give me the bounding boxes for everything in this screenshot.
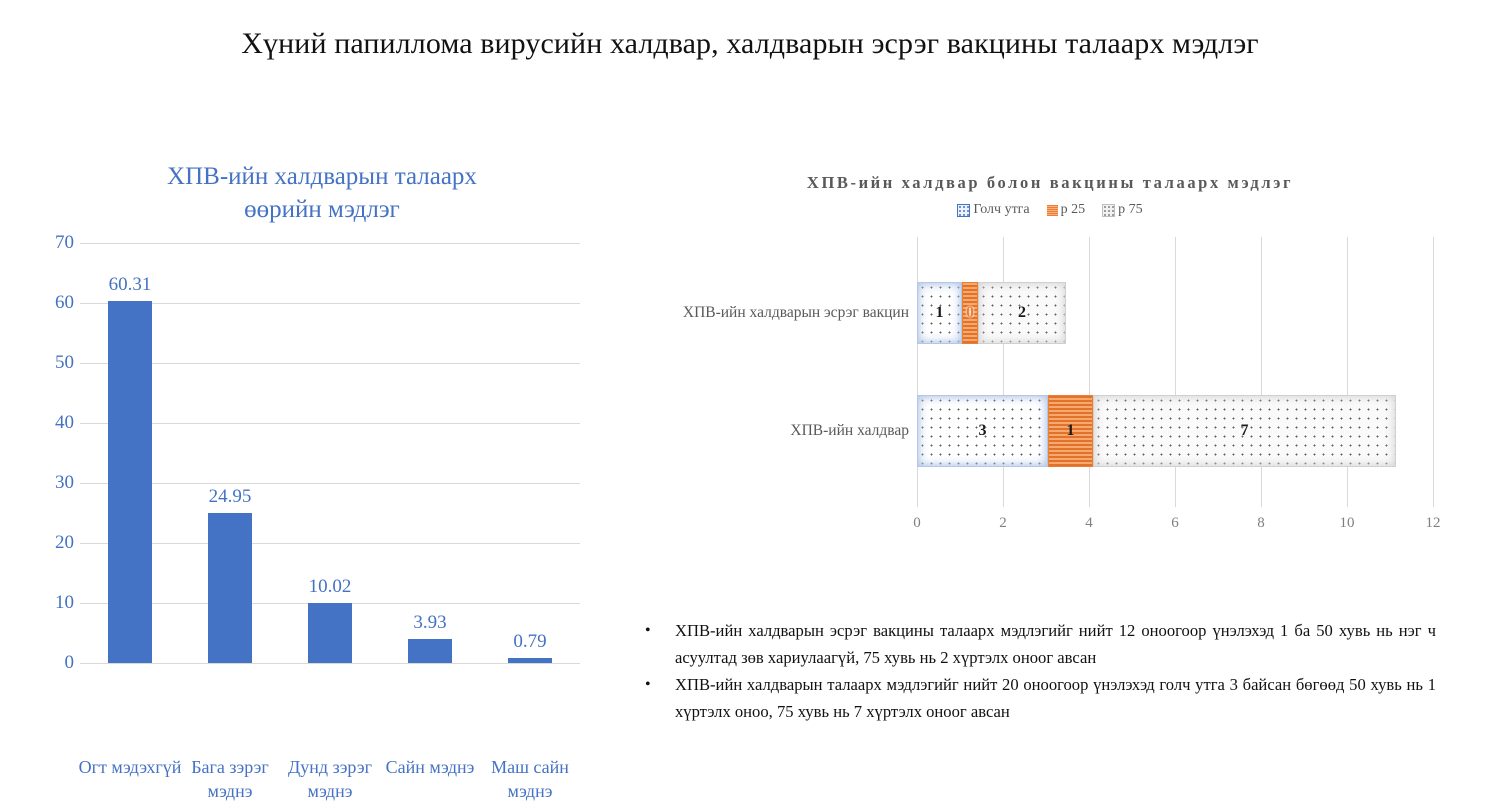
left-chart-y-tick-label: 50: [14, 352, 74, 374]
right-chart-legend-item[interactable]: p 75: [1102, 202, 1143, 218]
bullet-item: • ХПВ-ийн халдварын талаарх мэдлэгийг ни…: [636, 672, 1436, 725]
right-chart-legend: Голч утгаp 25p 75: [620, 202, 1480, 218]
left-chart-gridline: [80, 543, 580, 544]
bullet-text: ХПВ-ийн халдварын талаарх мэдлэгийг нийт…: [675, 672, 1436, 725]
left-chart-value-label: 10.02: [285, 576, 375, 598]
left-chart-title-line2: өөрийн мэдлэг: [127, 193, 517, 226]
right-chart-title: ХПВ-ийн халдвар болон вакцины талаарх мэ…: [620, 173, 1480, 193]
left-chart-category-label: Дунд зэрэг мэднэ: [278, 755, 382, 803]
left-chart-plot-area: 01020304050607060.31Огт мэдэхгүй24.95Баг…: [80, 243, 580, 663]
left-chart-gridline: [80, 423, 580, 424]
right-chart-category-label: ХПВ-ийн халдварын эсрэг вакцин: [683, 304, 909, 322]
left-chart: ХПВ-ийн халдварын талаарх өөрийн мэдлэг …: [22, 160, 612, 780]
right-chart-category-label: ХПВ-ийн халдвар: [790, 422, 909, 440]
right-chart: ХПВ-ийн халдвар болон вакцины талаарх мэ…: [620, 160, 1480, 570]
left-chart-gridline: [80, 243, 580, 244]
right-chart-segment-value-label: 2: [1018, 304, 1026, 322]
right-chart-stacked-bar: 102: [917, 282, 1066, 344]
left-chart-bar: [308, 603, 352, 663]
right-chart-x-tick-label: 6: [1171, 515, 1179, 532]
left-chart-category-label: Бага зэрэг мэднэ: [178, 755, 282, 803]
left-chart-gridline: [80, 663, 580, 664]
right-chart-bar-segment: 1: [1048, 395, 1093, 467]
left-chart-bar: [408, 639, 452, 663]
right-chart-x-tick-label: 10: [1340, 515, 1355, 532]
left-chart-title-line1: ХПВ-ийн халдварын талаарх: [127, 160, 517, 193]
legend-swatch-icon: [1047, 205, 1058, 216]
left-chart-bar: [508, 658, 552, 663]
legend-swatch-icon: [1102, 204, 1115, 217]
right-chart-plot-area: 024681012ХПВ-ийн халдварын эсрэг вакцин1…: [917, 237, 1433, 507]
right-chart-segment-value-label: 7: [1241, 422, 1249, 440]
left-chart-value-label: 60.31: [85, 274, 175, 296]
legend-swatch-icon: [957, 204, 970, 217]
left-chart-category-label: Маш сайн мэднэ: [478, 755, 582, 803]
bullet-marker-icon: •: [636, 672, 675, 699]
bullet-text: ХПВ-ийн халдварын эсрэг вакцины талаарх …: [675, 618, 1436, 671]
left-chart-title: ХПВ-ийн халдварын талаарх өөрийн мэдлэг: [127, 160, 517, 226]
slide-title: Хүний папиллома вирусийн халдвар, халдва…: [0, 27, 1500, 61]
bullet-list: •ХПВ-ийн халдварын эсрэг вакцины талаарх…: [636, 618, 1436, 726]
right-chart-x-tick-label: 4: [1085, 515, 1093, 532]
left-chart-gridline: [80, 303, 580, 304]
right-chart-gridline: [1433, 237, 1434, 507]
right-chart-legend-item[interactable]: Голч утга: [957, 202, 1029, 218]
left-chart-bar: [108, 301, 152, 663]
left-chart-value-label: 24.95: [185, 486, 275, 508]
left-chart-gridline: [80, 483, 580, 484]
right-chart-legend-label: Голч утга: [973, 202, 1029, 218]
left-chart-value-label: 3.93: [385, 612, 475, 634]
bullet-marker-icon: •: [636, 618, 675, 645]
left-chart-y-tick-label: 0: [14, 652, 74, 674]
right-chart-bar-segment: 2: [978, 282, 1066, 344]
left-chart-value-label: 0.79: [485, 631, 575, 653]
right-chart-segment-value-label: 3: [979, 422, 987, 440]
right-chart-x-tick-label: 8: [1257, 515, 1265, 532]
right-chart-segment-value-label: 0: [966, 304, 974, 322]
right-chart-x-tick-label: 2: [999, 515, 1007, 532]
right-chart-bar-segment: 3: [917, 395, 1048, 467]
right-chart-stacked-bar: 317: [917, 395, 1396, 467]
right-chart-x-tick-label: 0: [913, 515, 921, 532]
left-chart-bar: [208, 513, 252, 663]
left-chart-category-label: Сайн мэднэ: [378, 755, 482, 779]
left-chart-y-tick-label: 60: [14, 292, 74, 314]
right-chart-legend-item[interactable]: p 25: [1047, 202, 1086, 218]
left-chart-y-tick-label: 10: [14, 592, 74, 614]
right-chart-legend-label: p 75: [1118, 202, 1143, 218]
right-chart-x-tick-label: 12: [1426, 515, 1441, 532]
right-chart-bar-segment: 1: [917, 282, 962, 344]
right-chart-segment-value-label: 1: [936, 304, 944, 322]
bullet-item: •ХПВ-ийн халдварын эсрэг вакцины талаарх…: [636, 618, 1436, 671]
right-chart-bar-segment: 7: [1093, 395, 1396, 467]
right-chart-segment-value-label: 1: [1067, 422, 1075, 440]
right-chart-legend-label: p 25: [1061, 202, 1086, 218]
left-chart-y-tick-label: 30: [14, 472, 74, 494]
left-chart-y-tick-label: 70: [14, 232, 74, 254]
left-chart-category-label: Огт мэдэхгүй: [78, 755, 182, 779]
right-chart-bar-segment: 0: [962, 282, 978, 344]
left-chart-y-tick-label: 40: [14, 412, 74, 434]
left-chart-y-tick-label: 20: [14, 532, 74, 554]
left-chart-gridline: [80, 363, 580, 364]
